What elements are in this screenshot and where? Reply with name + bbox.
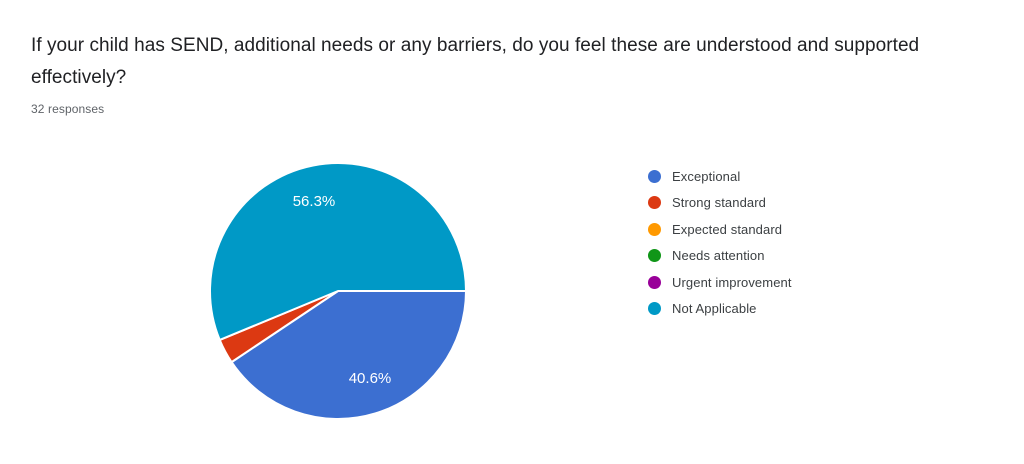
legend-swatch-expected-standard xyxy=(648,223,661,236)
legend-item-label: Strong standard xyxy=(672,195,766,210)
legend-item[interactable]: Exceptional xyxy=(648,163,948,190)
pie-slices xyxy=(210,163,466,419)
legend-item[interactable]: Needs attention xyxy=(648,243,948,270)
page-title: If your child has SEND, additional needs… xyxy=(31,30,971,94)
legend-swatch-exceptional xyxy=(648,170,661,183)
pie-chart: 40.6%56.3% xyxy=(210,163,466,419)
pie-chart-svg: 40.6%56.3% xyxy=(210,163,466,419)
chart-header: If your child has SEND, additional needs… xyxy=(31,30,971,117)
legend-item-label: Needs attention xyxy=(672,248,765,263)
legend-item-label: Not Applicable xyxy=(672,301,757,316)
chart-area: 40.6%56.3% ExceptionalStrong standardExp… xyxy=(0,133,1024,464)
response-count: 32 responses xyxy=(31,101,971,117)
pie-slice-label: 40.6% xyxy=(349,370,392,387)
legend-swatch-needs-attention xyxy=(648,249,661,262)
legend-swatch-not-applicable xyxy=(648,302,661,315)
legend-swatch-strong-standard xyxy=(648,196,661,209)
legend-swatch-urgent-improvement xyxy=(648,276,661,289)
legend-item-label: Urgent improvement xyxy=(672,275,792,290)
chart-legend: ExceptionalStrong standardExpected stand… xyxy=(648,163,948,322)
legend-item-label: Expected standard xyxy=(672,222,782,237)
legend-item[interactable]: Not Applicable xyxy=(648,296,948,323)
legend-item[interactable]: Urgent improvement xyxy=(648,269,948,296)
legend-item-label: Exceptional xyxy=(672,169,740,184)
pie-slice-label: 56.3% xyxy=(293,193,336,210)
legend-item[interactable]: Expected standard xyxy=(648,216,948,243)
legend-item[interactable]: Strong standard xyxy=(648,190,948,217)
